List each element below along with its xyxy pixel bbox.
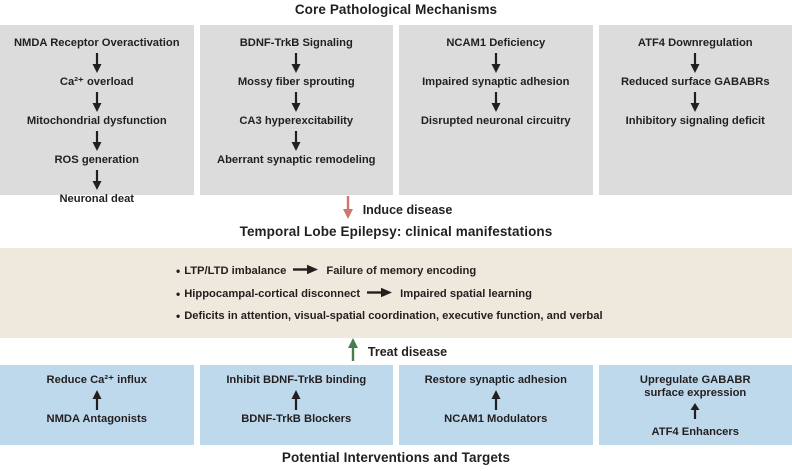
intervention-agent: BDNF-TrkB Blockers <box>241 413 351 426</box>
arrow-down-icon <box>91 130 103 152</box>
mechanism-node: Aberrant synaptic remodeling <box>217 154 376 167</box>
arrow-up-icon <box>490 389 502 411</box>
mechanism-panel-atf4: ATF4 Downregulation Reduced surface GABA… <box>599 25 792 195</box>
mechanism-node: ATF4 Downregulation <box>638 37 753 50</box>
intervention-panel-nmda: Reduce Ca²⁺ influx NMDA Antagonists <box>0 365 194 445</box>
intervention-panel-atf4: Upregulate GABABR surface expression ATF… <box>599 365 792 445</box>
page-title-mechanisms: Core Pathological Mechanisms <box>0 2 792 17</box>
clinical-bullet-right: Impaired spatial learning <box>400 288 532 300</box>
clinical-bullet-left: Deficits in attention, visual-spatial co… <box>184 310 602 322</box>
mechanism-node: NMDA Receptor Overactivation <box>14 37 180 50</box>
intervention-agent: NMDA Antagonists <box>47 413 147 426</box>
arrow-down-icon <box>91 91 103 113</box>
arrow-down-icon <box>490 91 502 113</box>
mechanism-panel-bdnf: BDNF-TrkB Signaling Mossy fiber sproutin… <box>200 25 394 195</box>
arrow-up-icon <box>689 402 701 424</box>
transition-treat: Treat disease <box>0 339 792 365</box>
transition-induce-label: Induce disease <box>363 203 453 217</box>
intervention-target-line2: surface expression <box>644 387 746 400</box>
intervention-target: Upregulate GABABR <box>640 374 751 387</box>
intervention-target: Inhibit BDNF-TrkB binding <box>226 374 366 387</box>
mechanism-node: Impaired synaptic adhesion <box>422 76 569 89</box>
clinical-manifestations-panel: • LTP/LTD imbalance Failure of memory en… <box>0 248 792 338</box>
page-title-clinical: Temporal Lobe Epilepsy: clinical manifes… <box>0 224 792 239</box>
clinical-bullet-item: • Deficits in attention, visual-spatial … <box>176 310 792 322</box>
intervention-panel-bdnf: Inhibit BDNF-TrkB binding BDNF-TrkB Bloc… <box>200 365 394 445</box>
mechanism-node: Disrupted neuronal circuitry <box>421 115 571 128</box>
arrow-down-red-icon <box>340 195 356 225</box>
mechanism-node: BDNF-TrkB Signaling <box>240 37 353 50</box>
bullet-dot-icon: • <box>176 310 180 322</box>
mechanism-node: Reduced surface GABABRs <box>621 76 770 89</box>
arrow-down-icon <box>689 91 701 113</box>
arrow-up-icon <box>290 389 302 411</box>
mechanism-node: Mossy fiber sprouting <box>238 76 355 89</box>
mechanisms-row: NMDA Receptor Overactivation Ca²⁺ overlo… <box>0 25 792 195</box>
arrow-down-icon <box>290 52 302 74</box>
mechanism-node: Ca²⁺ overload <box>60 76 134 89</box>
intervention-agent: ATF4 Enhancers <box>652 426 739 439</box>
clinical-bullet-item: • Hippocampal-cortical disconnect Impair… <box>176 287 792 301</box>
intervention-target: Reduce Ca²⁺ influx <box>47 374 147 387</box>
mechanism-node: Mitochondrial dysfunction <box>27 115 167 128</box>
mechanism-node: CA3 hyperexcitability <box>239 115 353 128</box>
arrow-down-icon <box>689 52 701 74</box>
arrow-up-green-icon <box>345 337 361 367</box>
transition-treat-label: Treat disease <box>368 345 447 359</box>
arrow-right-icon <box>293 264 319 278</box>
page-title-interventions: Potential Interventions and Targets <box>0 450 792 465</box>
mechanism-panel-ncam1: NCAM1 Deficiency Impaired synaptic adhes… <box>399 25 593 195</box>
mechanism-node: ROS generation <box>54 154 139 167</box>
intervention-panel-ncam1: Restore synaptic adhesion NCAM1 Modulato… <box>399 365 593 445</box>
mechanism-node: Inhibitory signaling deficit <box>626 115 765 128</box>
bullet-dot-icon: • <box>176 288 180 300</box>
arrow-right-icon <box>367 287 393 301</box>
intervention-agent: NCAM1 Modulators <box>444 413 547 426</box>
transition-induce: Induce disease <box>0 197 792 223</box>
mechanism-panel-nmda: NMDA Receptor Overactivation Ca²⁺ overlo… <box>0 25 194 195</box>
arrow-down-icon <box>290 91 302 113</box>
clinical-bullet-item: • LTP/LTD imbalance Failure of memory en… <box>176 264 792 278</box>
interventions-row: Reduce Ca²⁺ influx NMDA Antagonists Inhi… <box>0 365 792 445</box>
bullet-dot-icon: • <box>176 265 180 277</box>
clinical-bullet-left: Hippocampal-cortical disconnect <box>184 288 360 300</box>
clinical-bullet-right: Failure of memory encoding <box>326 265 476 277</box>
arrow-down-icon <box>91 52 103 74</box>
arrow-down-icon <box>290 130 302 152</box>
intervention-target: Restore synaptic adhesion <box>425 374 567 387</box>
mechanism-node: NCAM1 Deficiency <box>446 37 545 50</box>
arrow-up-icon <box>91 389 103 411</box>
arrow-down-icon <box>91 169 103 191</box>
clinical-bullet-left: LTP/LTD imbalance <box>184 265 286 277</box>
arrow-down-icon <box>490 52 502 74</box>
